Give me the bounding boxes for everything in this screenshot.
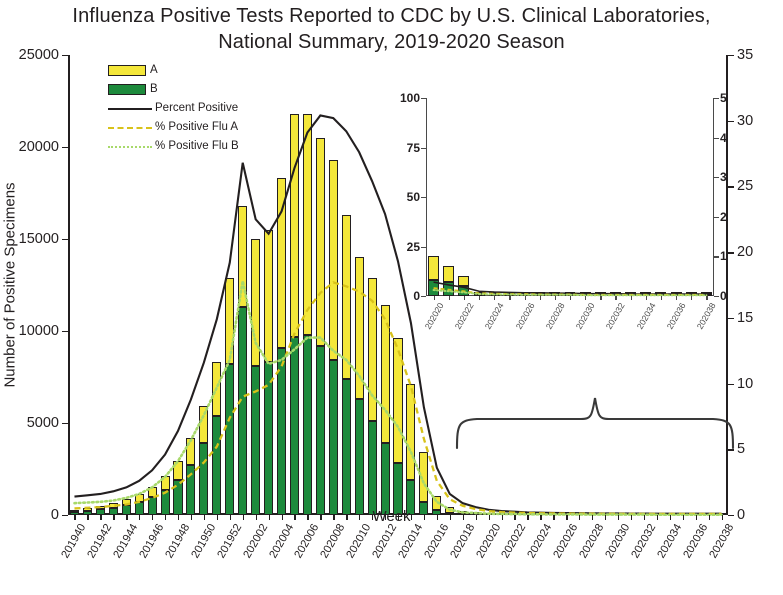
inset-y-tick-right	[714, 217, 719, 218]
inset-x-tick	[494, 296, 495, 300]
inset-y-tick-label-left: 0	[413, 289, 420, 303]
y-tick-label-right: 25	[737, 178, 753, 194]
x-tick-label: 202024	[526, 522, 555, 560]
inset-x-tick	[661, 296, 662, 300]
inset-y-tick-left	[421, 98, 426, 99]
swatch-green-icon	[108, 84, 146, 95]
inset-y-tick-right	[714, 98, 719, 99]
line-black-solid-icon	[108, 108, 152, 110]
y-tick-label-right: 20	[737, 244, 753, 260]
inset-x-tick	[706, 296, 707, 300]
inset-y-tick-left	[421, 296, 426, 297]
inset-brace-icon	[455, 378, 735, 450]
chart-title: Influenza Positive Tests Reported to CDC…	[0, 4, 783, 55]
inset-y-tick-label-left: 25	[407, 240, 420, 254]
x-tick-label: 202026	[552, 522, 581, 560]
inset-y-tick-left	[421, 148, 426, 149]
y-tick-label-right: 10	[737, 376, 753, 392]
inset-percent-lines	[426, 98, 714, 296]
inset-x-tick	[525, 296, 526, 300]
x-tick-label: 202012	[370, 522, 399, 560]
inset-x-tick	[434, 296, 435, 300]
inset-x-tick	[555, 296, 556, 300]
y-tick-right	[728, 55, 734, 56]
y-axis-left-title: Number of Positive Specimens	[2, 182, 19, 387]
inset-x-tick	[585, 296, 586, 300]
inset-y-tick-label-right: 3	[720, 170, 727, 184]
x-tick-label: 202030	[603, 522, 632, 560]
y-tick-label-left: 15000	[19, 231, 59, 247]
inset-chart: 0255075100012345202020202022202024202026…	[426, 98, 714, 296]
x-tick-label: 202038	[707, 522, 736, 560]
y-tick-left	[62, 239, 68, 240]
inset-y-tick-right	[714, 138, 719, 139]
inset-x-tick	[449, 296, 450, 300]
x-tick-label: 202014	[396, 522, 425, 560]
x-tick-label: 202016	[422, 522, 451, 560]
x-tick-label: 202008	[319, 522, 348, 560]
y-tick-label-left: 20000	[19, 139, 59, 155]
inset-y-tick-label-left: 75	[407, 141, 420, 155]
inset-x-tick	[631, 296, 632, 300]
x-tick-label: 201946	[137, 522, 166, 560]
x-tick-label: 201948	[163, 522, 192, 560]
inset-x-tick	[509, 296, 510, 300]
inset-x-tick	[570, 296, 571, 300]
title-line-1: Influenza Positive Tests Reported to CDC…	[72, 5, 710, 27]
y-tick-left	[62, 55, 68, 56]
inset-y-tick-right	[714, 256, 719, 257]
x-tick-label: 202034	[655, 522, 684, 560]
inset-x-tick	[615, 296, 616, 300]
inset-x-tick	[691, 296, 692, 300]
swatch-yellow-icon	[108, 65, 146, 76]
x-tick-label: 201944	[112, 522, 141, 560]
inset-y-tick-label-left: 50	[407, 190, 420, 204]
line-yellow-dashed-icon	[108, 127, 152, 129]
inset-y-tick-left	[421, 197, 426, 198]
inset-x-tick	[600, 296, 601, 300]
inset-y-tick-right	[714, 296, 719, 297]
x-tick-label: 202018	[448, 522, 477, 560]
legend-item-b: B	[108, 82, 239, 97]
y-tick-label-right: 15	[737, 310, 753, 326]
inset-x-tick	[676, 296, 677, 300]
y-tick-left	[62, 147, 68, 148]
legend-label-percent-flu-a: % Positive Flu A	[155, 122, 238, 134]
legend-item-percent-positive: Percent Positive	[108, 101, 239, 116]
legend-label-percent-flu-b: % Positive Flu B	[155, 141, 239, 153]
x-tick-label: 202022	[500, 522, 529, 560]
inset-y-tick-label-right: 0	[720, 289, 727, 303]
x-tick-label: 201942	[86, 522, 115, 560]
legend-label-percent-positive: Percent Positive	[155, 103, 238, 115]
y-tick-label-left: 25000	[19, 47, 59, 63]
inset-y-tick-label-right: 5	[720, 91, 727, 105]
y-tick-label-left: 5000	[27, 415, 59, 431]
inset-y-tick-label-right: 1	[720, 249, 727, 263]
inset-line-percent-positive	[434, 282, 707, 294]
inset-x-tick	[464, 296, 465, 300]
legend-item-a: A	[108, 63, 239, 78]
legend-item-percent-flu-a: % Positive Flu A	[108, 120, 239, 135]
x-tick-label: 202006	[293, 522, 322, 560]
inset-y-tick-right	[714, 177, 719, 178]
y-tick-right	[728, 186, 734, 187]
y-tick-label-right: 5	[737, 441, 745, 457]
x-tick-label: 202010	[345, 522, 374, 560]
y-tick-right	[728, 318, 734, 319]
legend-label-a: A	[150, 65, 158, 77]
inset-y-tick-left	[421, 247, 426, 248]
inset-y-tick-label-left: 100	[400, 91, 420, 105]
x-axis-title: Week	[0, 508, 783, 525]
inset-x-tick	[540, 296, 541, 300]
line-green-dotted-icon	[108, 146, 152, 148]
x-tick-label: 201950	[189, 522, 218, 560]
legend-label-b: B	[150, 84, 158, 96]
x-tick-label: 202032	[629, 522, 658, 560]
x-tick-label: 201952	[215, 522, 244, 560]
y-tick-right	[728, 121, 734, 122]
y-tick-right	[728, 252, 734, 253]
y-tick-left	[62, 423, 68, 424]
inset-y-tick-label-right: 2	[720, 210, 727, 224]
title-line-2: National Summary, 2019-2020 Season	[0, 30, 783, 56]
x-tick-label: 202020	[474, 522, 503, 560]
x-tick-label: 201940	[60, 522, 89, 560]
inset-x-tick	[646, 296, 647, 300]
x-tick-label: 202036	[681, 522, 710, 560]
x-tick-label: 202028	[577, 522, 606, 560]
inset-x-tick	[479, 296, 480, 300]
x-tick-label: 202004	[267, 522, 296, 560]
y-tick-left	[62, 331, 68, 332]
chart-legend: A B Percent Positive % Positive Flu A % …	[108, 63, 239, 158]
inset-y-tick-label-right: 4	[720, 131, 727, 145]
x-tick-label: 202002	[241, 522, 270, 560]
y-tick-label-right: 35	[737, 47, 753, 63]
y-tick-label-right: 30	[737, 113, 753, 129]
legend-item-percent-flu-b: % Positive Flu B	[108, 139, 239, 154]
y-tick-label-left: 10000	[19, 323, 59, 339]
